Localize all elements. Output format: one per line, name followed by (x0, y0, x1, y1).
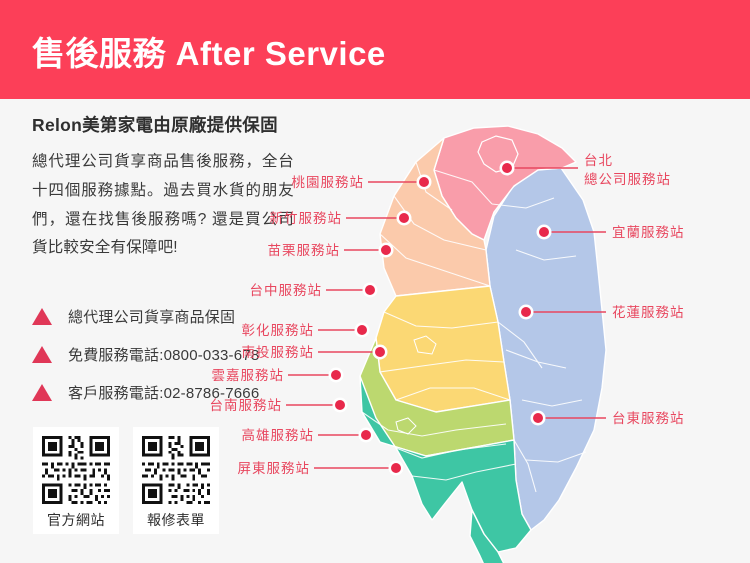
map-label-yunjia[interactable]: 雲嘉服務站 (66, 367, 284, 386)
after-service-page: 售後服務 After Service Relon美第家電由原廠提供保固 總代理公… (0, 0, 750, 563)
map-label-taoyuan[interactable]: 桃園服務站 (86, 174, 364, 193)
map-label-taipei[interactable]: 台北 總公司服務站 (584, 152, 671, 190)
taiwan-map-icon (276, 100, 750, 563)
map-label-tainan[interactable]: 台南服務站 (66, 397, 282, 416)
map-label-hualien[interactable]: 花蓮服務站 (612, 304, 685, 323)
map-label-yilan[interactable]: 宜蘭服務站 (612, 224, 685, 243)
map-label-pingtung[interactable]: 屏東服務站 (66, 460, 310, 479)
map-label-kaohsiung[interactable]: 高雄服務站 (66, 427, 314, 446)
triangle-icon (32, 346, 52, 363)
qr-caption: 官方網站 (47, 510, 105, 531)
map-label-changhua[interactable]: 彰化服務站 (76, 322, 314, 341)
qr-caption: 報修表單 (147, 510, 205, 531)
map-label-taipei-line2: 總公司服務站 (584, 171, 671, 190)
page-header: 售後服務 After Service (0, 0, 750, 99)
page-title: 售後服務 After Service (32, 27, 386, 75)
map-label-taipei-line1: 台北 (584, 152, 671, 171)
map-label-nantou[interactable]: 南投服務站 (76, 344, 314, 363)
map-label-hsinchu[interactable]: 新竹服務站 (86, 210, 342, 229)
taiwan-service-map: 桃園服務站 新竹服務站 苗栗服務站 台中服務站 彰化服務站 南投服務站 雲嘉服務… (276, 100, 750, 563)
triangle-icon (32, 384, 52, 401)
map-label-taitung[interactable]: 台東服務站 (612, 410, 685, 429)
map-label-miaoli[interactable]: 苗栗服務站 (86, 242, 340, 261)
triangle-icon (32, 308, 52, 325)
map-label-taichung[interactable]: 台中服務站 (76, 282, 322, 301)
